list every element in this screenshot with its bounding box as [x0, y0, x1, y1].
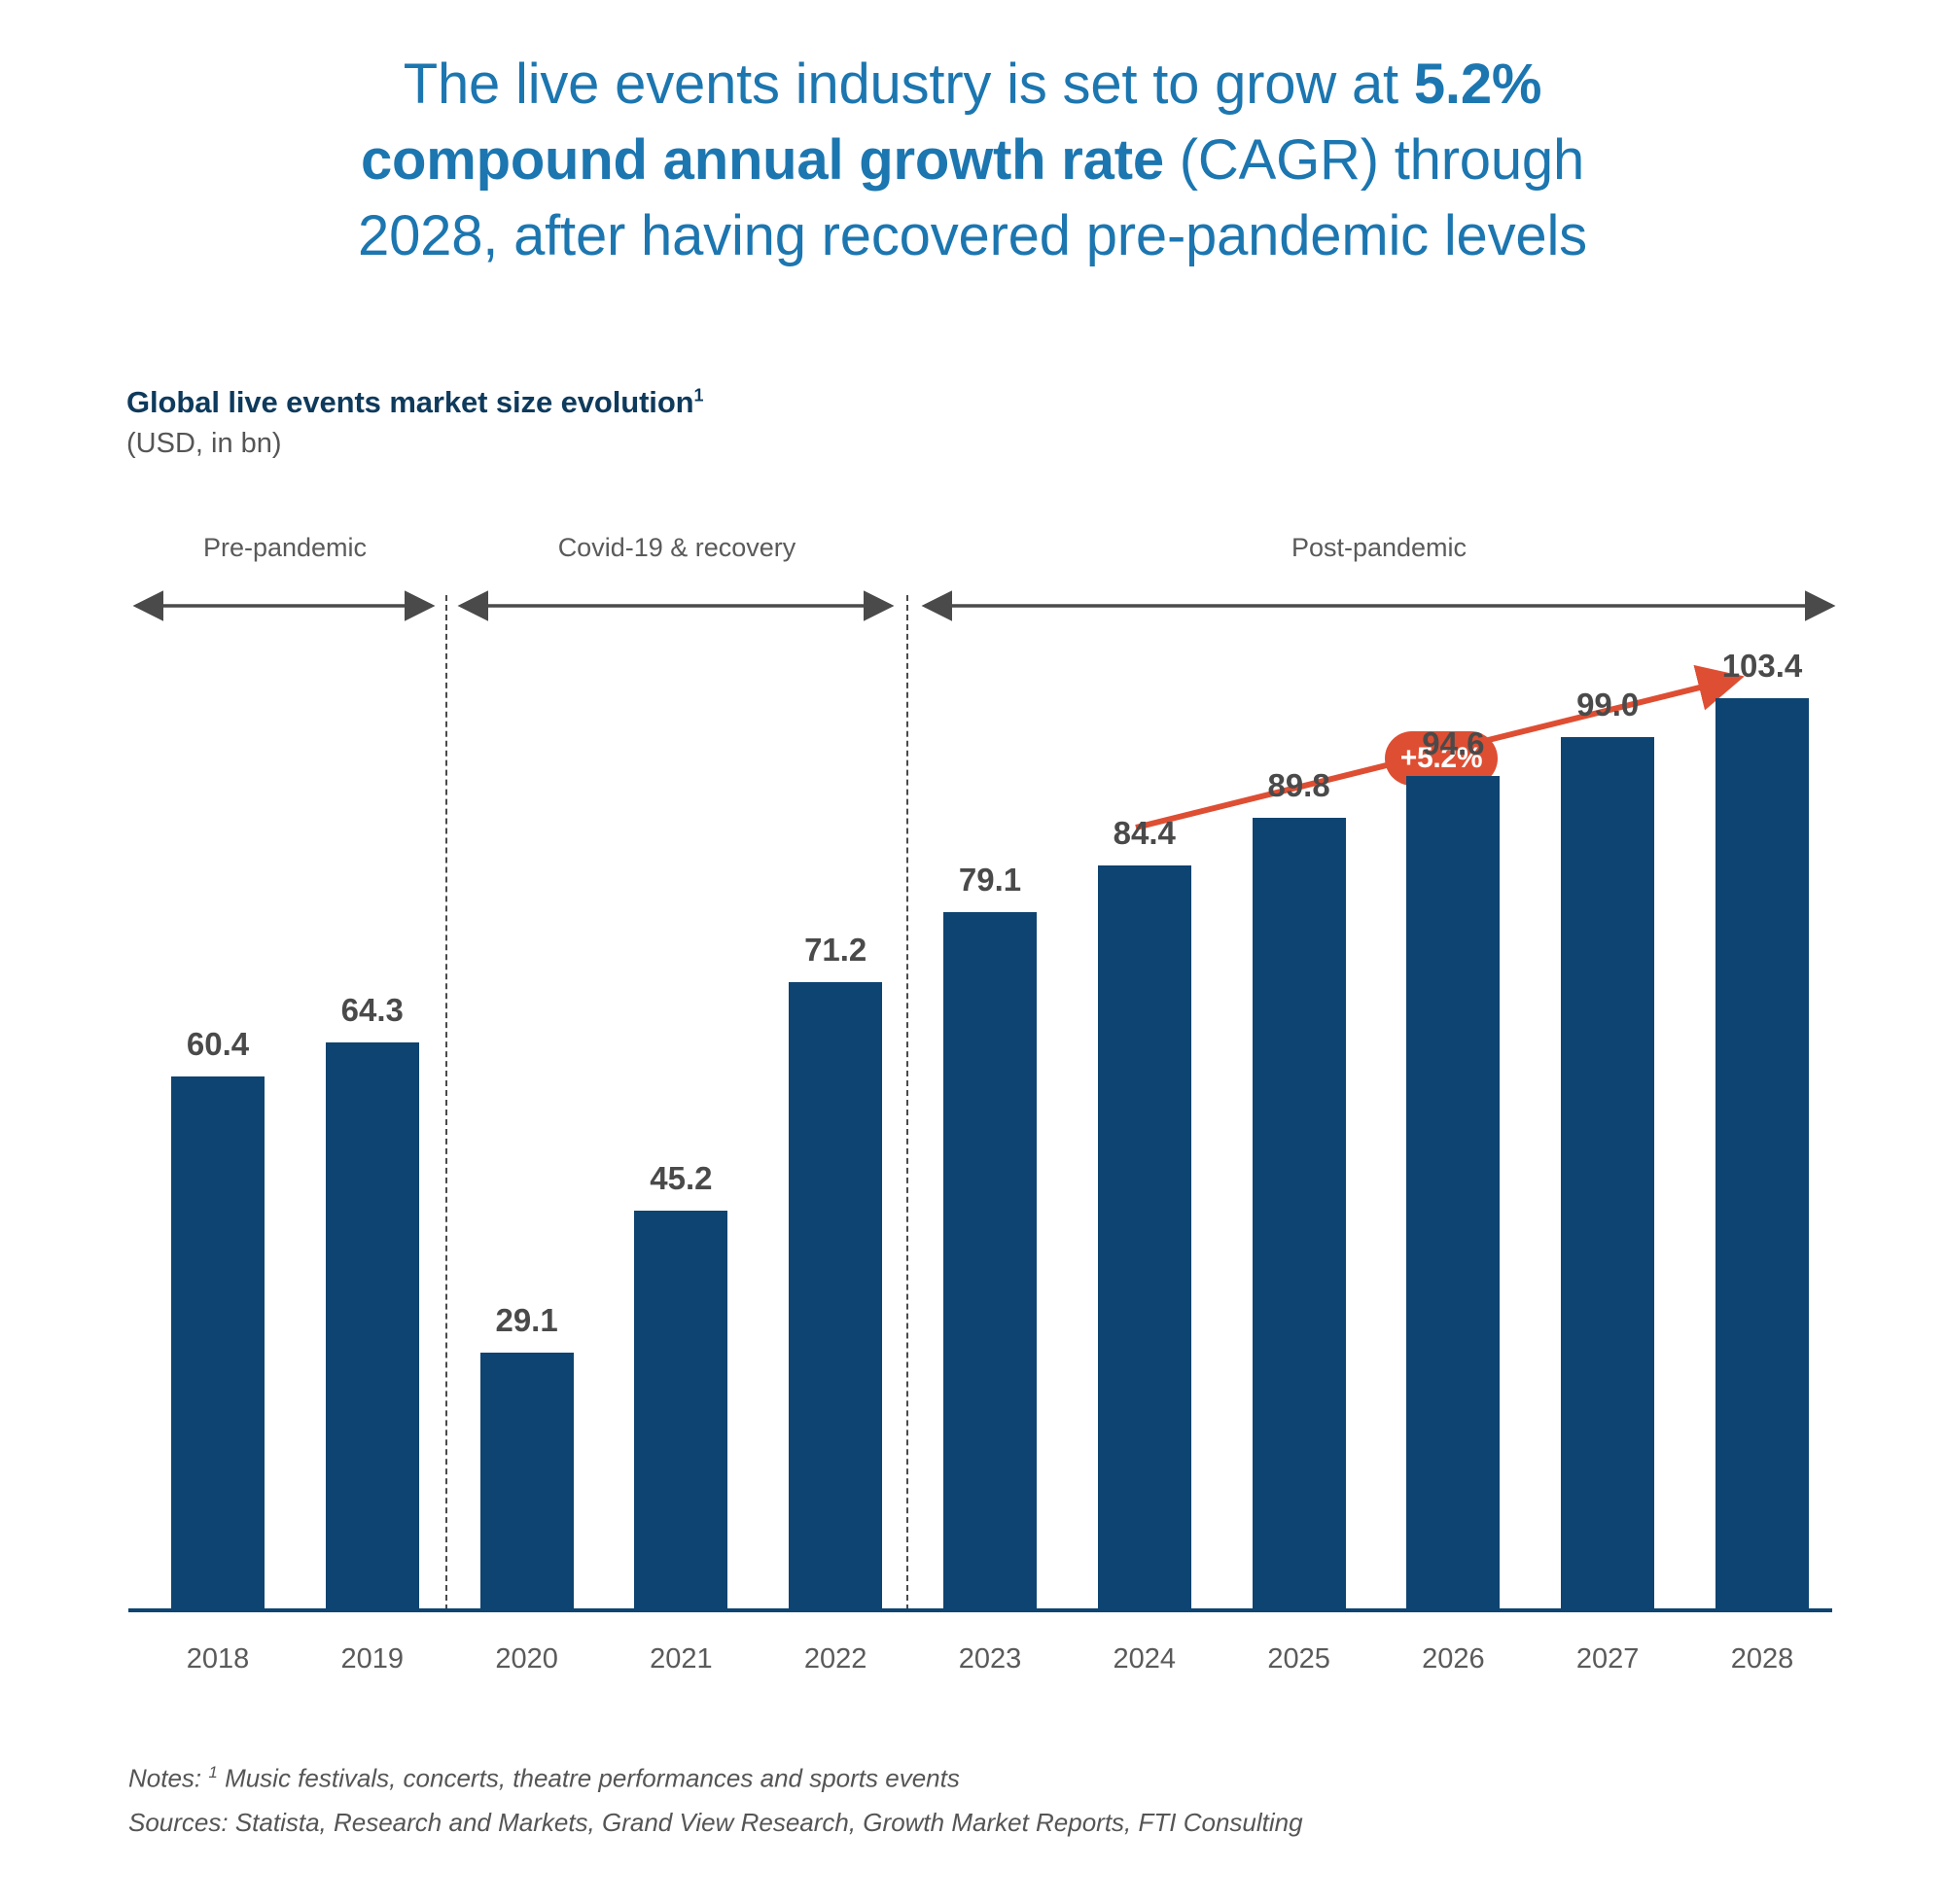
bar-2022 — [789, 982, 882, 1608]
x-axis-label-2028: 2028 — [1675, 1643, 1850, 1675]
headline-line-1-bold: 5.2% — [1414, 53, 1541, 116]
phase-divider-2022-2023 — [906, 595, 908, 1610]
x-axis-label-2018: 2018 — [130, 1643, 305, 1675]
bar-2018 — [171, 1076, 265, 1608]
bar-2020 — [480, 1353, 574, 1608]
x-axis-line — [128, 1608, 1832, 1612]
headline-line-3: 2028, after having recovered pre-pandemi… — [0, 198, 1945, 274]
bar-value-label-2018: 60.4 — [130, 1026, 305, 1063]
bar-value-label-2028: 103.4 — [1675, 648, 1850, 685]
bar-2023 — [943, 912, 1037, 1608]
bar-2027 — [1561, 737, 1654, 1608]
footnote-notes-marker: 1 — [208, 1763, 217, 1781]
bar-value-label-2022: 71.2 — [748, 932, 923, 969]
footnote-notes-prefix: Notes: — [128, 1764, 208, 1793]
x-axis-label-2022: 2022 — [748, 1643, 923, 1675]
phase-arrow-band — [0, 580, 1945, 638]
bar-2028 — [1715, 698, 1809, 1608]
footnote-notes-text: Music festivals, concerts, theatre perfo… — [218, 1764, 960, 1793]
chart-unit-label: (USD, in bn) — [126, 428, 282, 460]
x-axis-label-2020: 2020 — [440, 1643, 615, 1675]
bar-value-label-2025: 89.8 — [1212, 767, 1387, 804]
bar-2024 — [1098, 865, 1191, 1608]
headline-line-2-bold: compound annual growth rate — [361, 128, 1164, 192]
x-axis-label-2021: 2021 — [593, 1643, 768, 1675]
bar-value-label-2027: 99.0 — [1520, 687, 1695, 723]
x-axis-label-2025: 2025 — [1212, 1643, 1387, 1675]
bar-value-label-2021: 45.2 — [593, 1160, 768, 1197]
phase-label-post-pandemic: Post-pandemic — [920, 533, 1838, 563]
headline-line-2: compound annual growth rate (CAGR) throu… — [0, 123, 1945, 198]
page-headline: The live events industry is set to grow … — [0, 47, 1945, 274]
headline-line-1-normal: The live events industry is set to grow … — [404, 53, 1414, 116]
phase-label-pre-pandemic: Pre-pandemic — [131, 533, 439, 563]
footnotes: Notes: 1 Music festivals, concerts, thea… — [128, 1750, 1303, 1845]
headline-line-1: The live events industry is set to grow … — [0, 47, 1945, 123]
bar-value-label-2023: 79.1 — [902, 862, 1078, 899]
bar-2025 — [1253, 818, 1346, 1608]
footnote-sources: Sources: Statista, Research and Markets,… — [128, 1801, 1303, 1845]
bar-2019 — [326, 1042, 419, 1608]
bar-value-label-2020: 29.1 — [440, 1302, 615, 1339]
chart-title: Global live events market size evolution… — [126, 385, 703, 420]
bar-value-label-2024: 84.4 — [1057, 815, 1232, 852]
x-axis-label-2024: 2024 — [1057, 1643, 1232, 1675]
phase-divider-2019-2020 — [445, 595, 447, 1610]
bar-value-label-2026: 94.6 — [1365, 725, 1540, 762]
chart-title-text: Global live events market size evolution — [126, 385, 694, 419]
phase-label-covid-recovery: Covid-19 & recovery — [457, 533, 897, 563]
bar-2026 — [1406, 776, 1500, 1608]
headline-line-2-normal: (CAGR) through — [1164, 128, 1584, 192]
chart-title-footnote-marker: 1 — [694, 386, 704, 405]
x-axis-label-2027: 2027 — [1520, 1643, 1695, 1675]
footnote-notes: Notes: 1 Music festivals, concerts, thea… — [128, 1750, 1303, 1801]
x-axis-label-2023: 2023 — [902, 1643, 1078, 1675]
x-axis-label-2026: 2026 — [1365, 1643, 1540, 1675]
bar-2021 — [634, 1211, 727, 1608]
x-axis-label-2019: 2019 — [285, 1643, 460, 1675]
bar-value-label-2019: 64.3 — [285, 992, 460, 1029]
